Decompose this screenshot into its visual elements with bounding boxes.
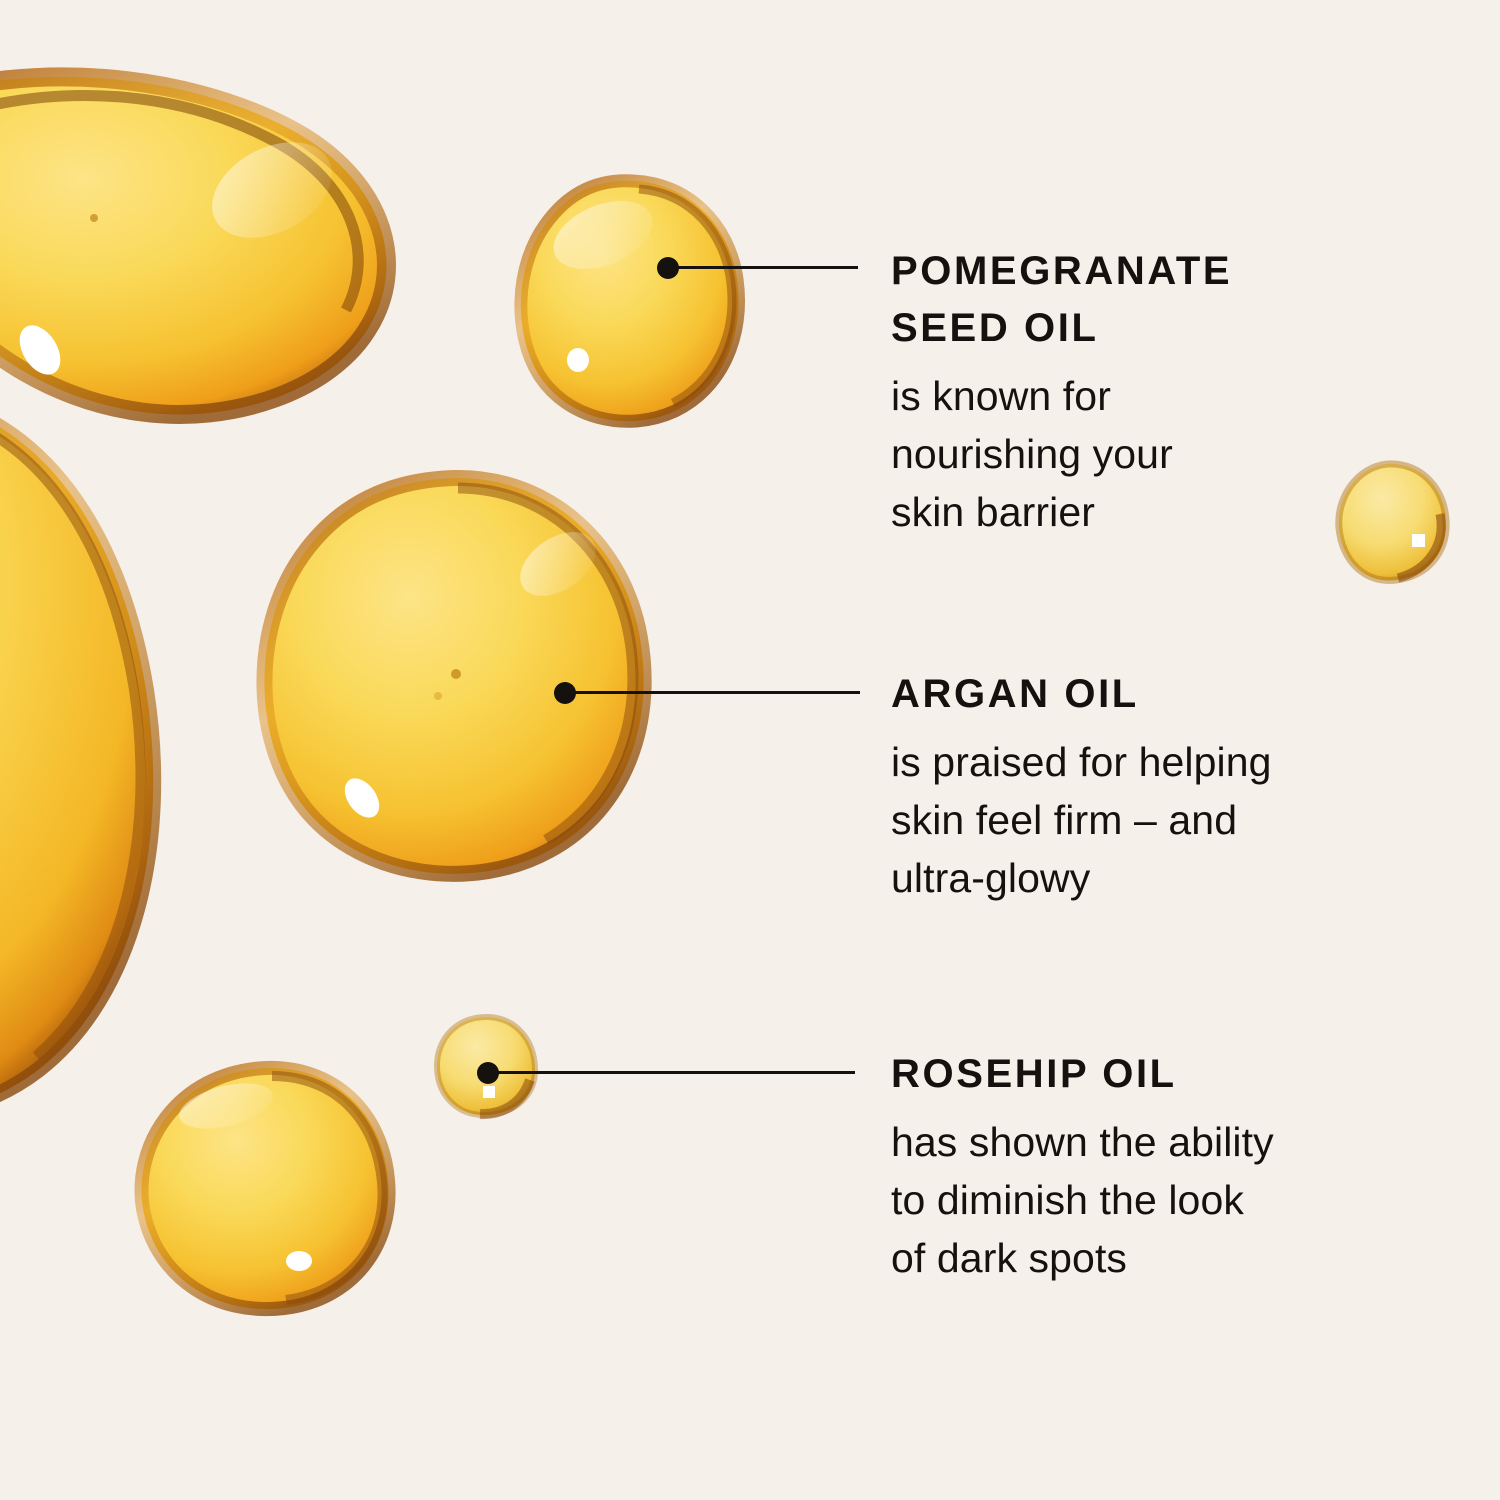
callout-title-argan: ARGAN OIL — [891, 666, 1361, 723]
oil-droplet-blob-left-large — [0, 390, 170, 1110]
callout-body-argan: is praised for helping skin feel firm – … — [891, 733, 1361, 907]
callout-body-pomegranate: is known for nourishing your skin barrie… — [891, 367, 1361, 541]
callout-pomegranate-seed-oil: POMEGRANATE SEED OIL is known for nouris… — [891, 243, 1361, 541]
leader-line-argan — [565, 691, 860, 694]
infographic-canvas: POMEGRANATE SEED OIL is known for nouris… — [0, 0, 1500, 1500]
leader-dot-pomegranate — [657, 257, 679, 279]
callout-title-rosehip: ROSEHIP OIL — [891, 1046, 1361, 1103]
leader-line-pomegranate — [668, 266, 858, 269]
callout-title-pomegranate: POMEGRANATE SEED OIL — [891, 243, 1361, 357]
leader-line-rosehip — [488, 1071, 855, 1074]
leader-dot-argan — [554, 682, 576, 704]
callout-body-rosehip: has shown the ability to diminish the lo… — [891, 1113, 1361, 1287]
oil-droplet-pomegranate — [515, 175, 745, 425]
oil-droplet-bottom-left — [136, 1064, 394, 1314]
oil-droplet-argan — [258, 472, 650, 876]
callout-rosehip-oil: ROSEHIP OIL has shown the ability to dim… — [891, 1046, 1361, 1287]
oil-droplet-teardrop-top-left — [0, 20, 440, 440]
leader-dot-rosehip — [477, 1062, 499, 1084]
callout-argan-oil: ARGAN OIL is praised for helping skin fe… — [891, 666, 1361, 907]
